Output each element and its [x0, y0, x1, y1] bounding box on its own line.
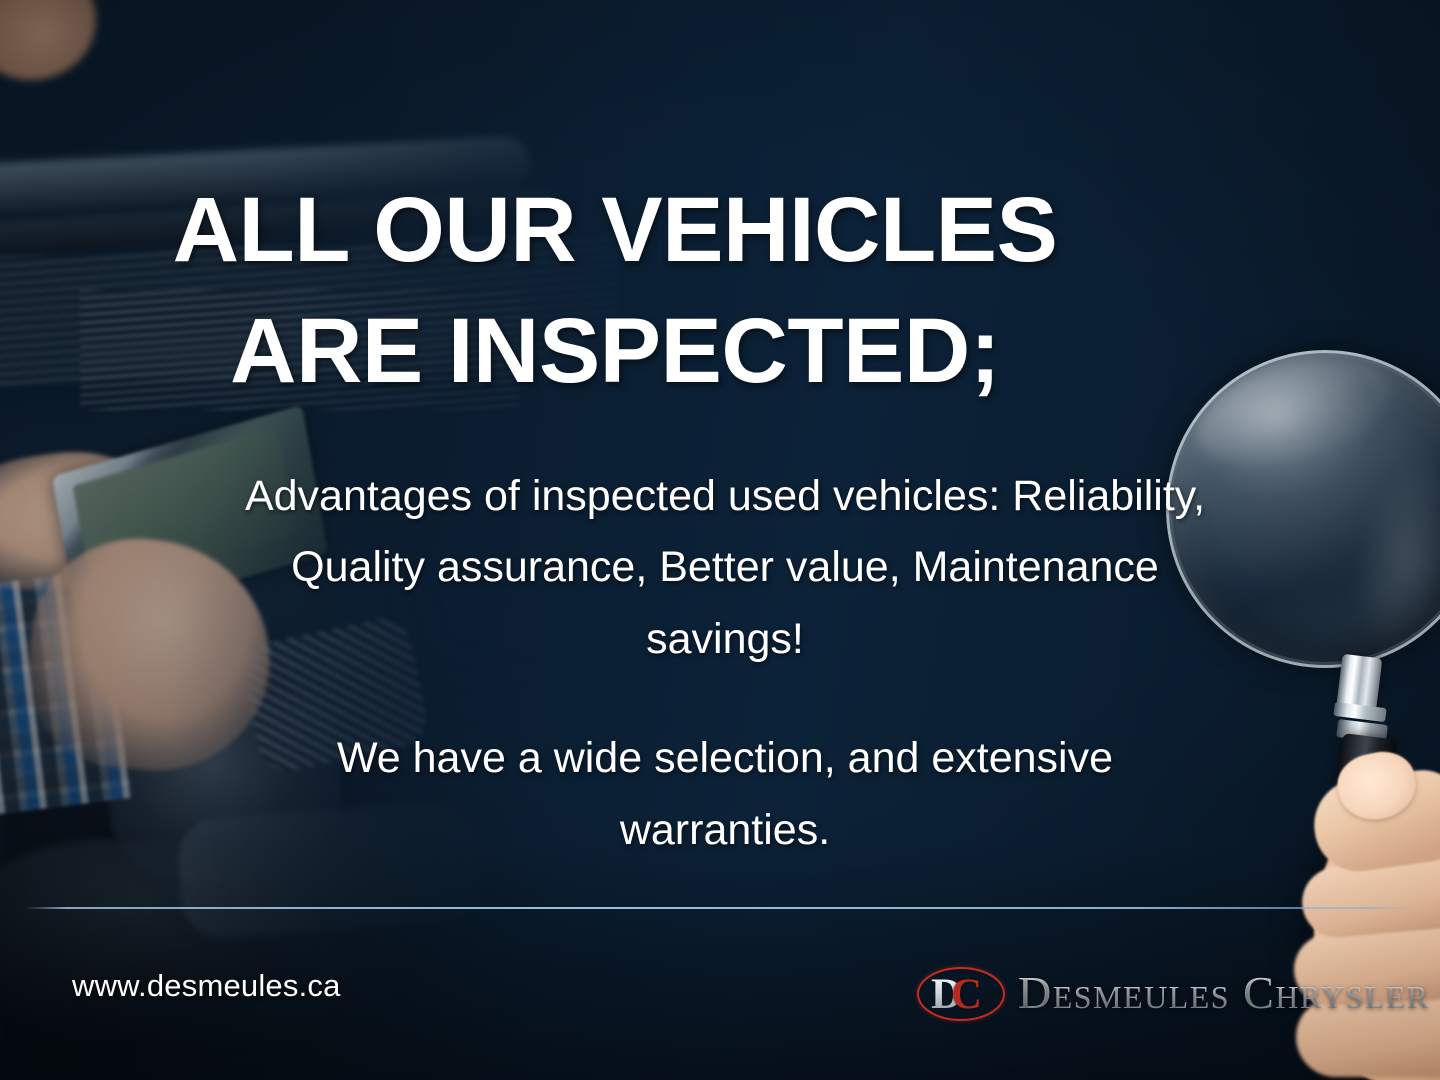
headline-line-1: ALL OUR VEHICLES — [0, 170, 1230, 291]
logo-wordmark: Desmeules Chrysler — [1018, 966, 1430, 1019]
website-url[interactable]: www.desmeules.ca — [72, 968, 341, 1004]
body-paragraph-selection: We have a wide selection, and extensive … — [230, 723, 1220, 866]
promotional-slide: ALL OUR VEHICLES ARE INSPECTED; Advantag… — [0, 0, 1440, 1080]
body-paragraph-advantages: Advantages of inspected used vehicles: R… — [230, 461, 1220, 675]
body-copy: Advantages of inspected used vehicles: R… — [230, 418, 1220, 909]
logo-monogram: D C — [912, 959, 1008, 1025]
headline-line-2: ARE INSPECTED; — [0, 291, 1230, 412]
footer-divider — [25, 907, 1413, 909]
page-title: ALL OUR VEHICLES ARE INSPECTED; — [0, 170, 1230, 413]
logo-letter-c: C — [951, 973, 982, 1016]
brand-logo[interactable]: D C Desmeules Chrysler — [912, 952, 1430, 1032]
